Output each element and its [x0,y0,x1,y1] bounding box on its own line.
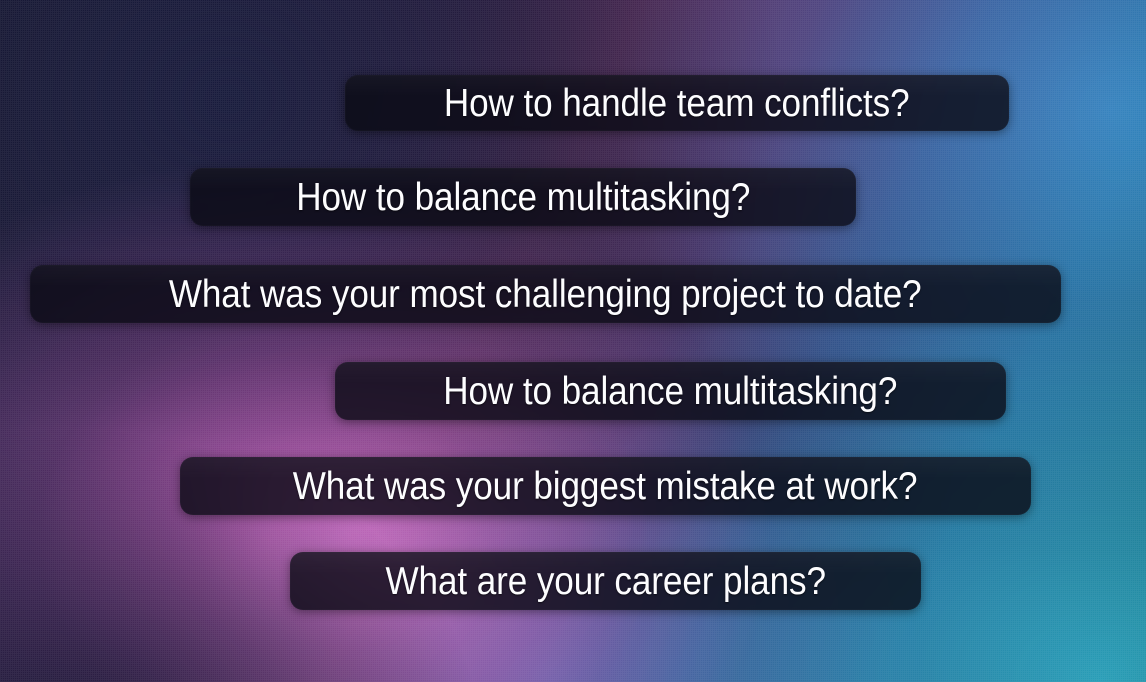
question-pill-most-challenging-project[interactable]: What was your most challenging project t… [30,265,1061,323]
question-pill-balance-multitasking-1[interactable]: How to balance multitasking? [190,168,856,226]
suggested-questions-screen: How to handle team conflicts? How to bal… [0,0,1146,682]
question-pill-balance-multitasking-2[interactable]: How to balance multitasking? [335,362,1006,420]
suggested-question-list: How to handle team conflicts? How to bal… [0,0,1146,682]
question-pill-label: What are your career plans? [385,562,825,601]
question-pill-label: How to handle team conflicts? [444,84,910,123]
question-pill-career-plans[interactable]: What are your career plans? [290,552,921,610]
question-pill-handle-team-conflicts[interactable]: How to handle team conflicts? [345,75,1009,131]
question-pill-label: What was your biggest mistake at work? [293,467,918,506]
question-pill-biggest-mistake-at-work[interactable]: What was your biggest mistake at work? [180,457,1031,515]
question-pill-label: How to balance multitasking? [296,178,750,217]
question-pill-label: What was your most challenging project t… [169,275,922,314]
question-pill-label: How to balance multitasking? [443,372,897,411]
